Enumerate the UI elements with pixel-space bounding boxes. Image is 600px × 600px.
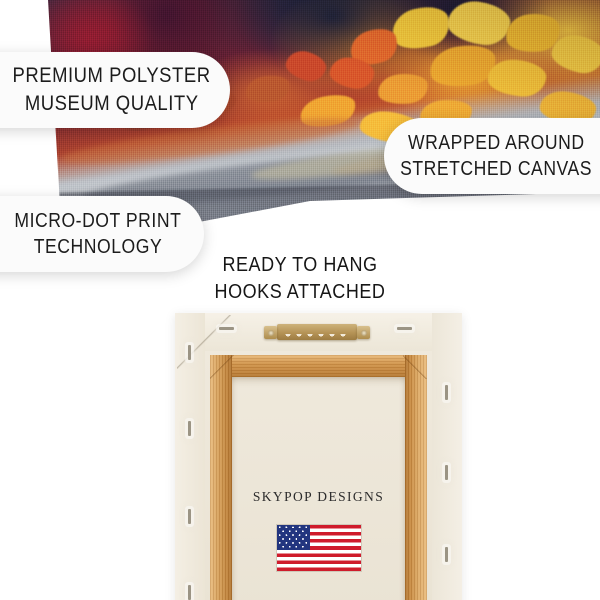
frame-miter-joint-right	[403, 355, 427, 379]
sawtooth-hanger-icon	[263, 323, 371, 343]
staple	[445, 465, 448, 480]
badge-premium-polyster: PREMIUM POLYSTER MUSEUM QUALITY	[0, 52, 230, 128]
badge-wrapped-around: WRAPPED AROUND STRETCHED CANVAS	[384, 118, 600, 194]
canvas-back-view: SKYPOP DESIGNS	[175, 313, 462, 600]
caption-line-1: READY TO HANG	[30, 252, 570, 279]
staple	[219, 327, 234, 330]
badge-line-1: WRAPPED AROUND	[408, 130, 585, 156]
staple	[445, 385, 448, 400]
united-states-flag-icon	[277, 525, 361, 571]
stretcher-bar-top	[210, 355, 427, 377]
caption-line-2: HOOKS ATTACHED	[30, 279, 570, 306]
wood-grain-texture	[405, 355, 427, 600]
badge-line-1: PREMIUM POLYSTER	[13, 62, 211, 90]
badge-line-1: MICRO-DOT PRINT	[15, 208, 182, 234]
hanger-teeth	[283, 334, 349, 341]
staple	[188, 509, 191, 524]
wood-grain-texture	[210, 355, 232, 600]
hanger-screw-left	[264, 326, 277, 339]
staple	[397, 327, 412, 330]
wood-grain-texture	[210, 355, 427, 377]
staple	[445, 547, 448, 562]
staple	[188, 421, 191, 436]
product-image: SKYPOP DESIGNS PREMIUM POLYSTER MUSEUM Q…	[0, 0, 600, 600]
stretcher-bar-left	[210, 355, 232, 600]
staple	[188, 345, 191, 360]
flag-stars	[277, 525, 361, 571]
badge-line-2: MUSEUM QUALITY	[25, 90, 199, 118]
staple	[188, 585, 191, 600]
hanger-screw-right	[357, 326, 370, 339]
badge-line-2: STRETCHED CANVAS	[400, 156, 592, 182]
ready-to-hang-caption: READY TO HANG HOOKS ATTACHED	[0, 252, 600, 306]
brand-label: SKYPOP DESIGNS	[175, 489, 462, 505]
frame-miter-joint-left	[210, 355, 234, 379]
stretcher-bar-right	[405, 355, 427, 600]
